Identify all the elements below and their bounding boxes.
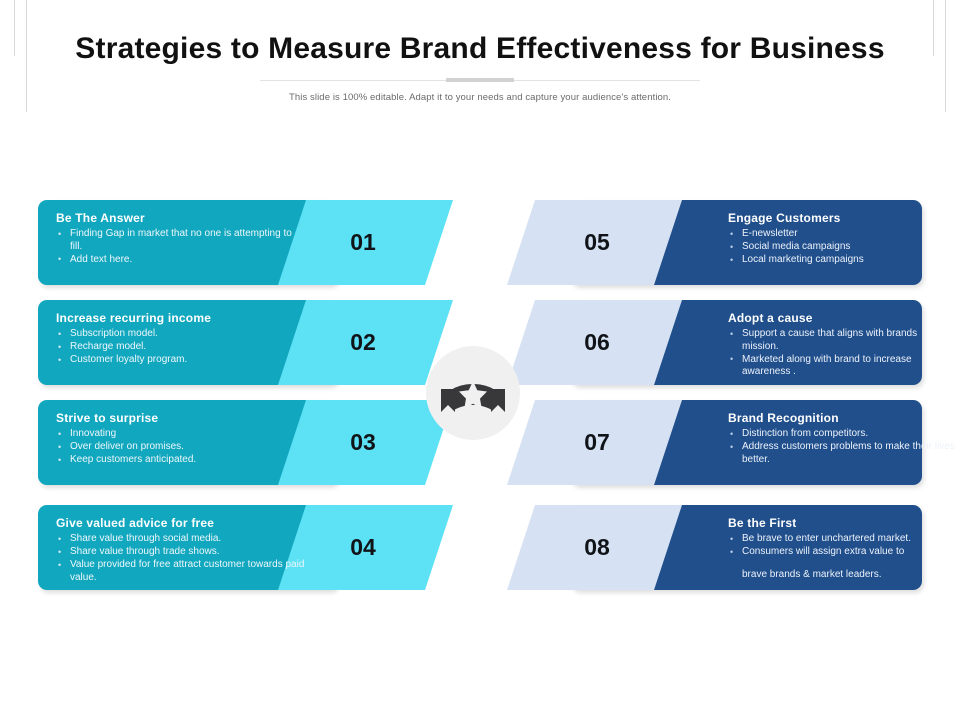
title-divider (260, 78, 700, 83)
card-content: Be The AnswerFinding Gap in market that … (56, 211, 306, 267)
right-card[interactable]: 07Brand RecognitionDistinction from comp… (570, 400, 922, 485)
center-emblem (426, 346, 520, 440)
bullet-list: Share value through social media.Share v… (56, 533, 306, 584)
card-title: Increase recurring income (56, 311, 306, 325)
bullet-list: InnovatingOver deliver on promises.Keep … (56, 428, 306, 467)
card-title: Strive to surprise (56, 411, 306, 425)
bullet-item: Address customers problems to make their… (728, 441, 956, 466)
bullet-list: Support a cause that aligns with brands … (728, 328, 956, 379)
card-number: 02 (328, 300, 398, 385)
bullet-item: Finding Gap in market that no one is att… (56, 228, 306, 253)
page-title: Strategies to Measure Brand Effectivenes… (0, 0, 960, 66)
card-number: 06 (562, 300, 632, 385)
bullet-item: Value provided for free attract customer… (56, 559, 306, 584)
bullet-item: Innovating (56, 428, 306, 441)
bullet-item: Consumers will assign extra value to (728, 546, 956, 559)
bullet-list: E-newsletterSocial media campaignsLocal … (728, 228, 956, 267)
card-title: Brand Recognition (728, 411, 956, 425)
bullet-item: Be brave to enter unchartered market. (728, 533, 956, 546)
card-number: 05 (562, 200, 632, 285)
card-number: 08 (562, 505, 632, 590)
bullet-item: Over deliver on promises. (56, 441, 306, 454)
bullet-item: Social media campaigns (728, 241, 956, 254)
title-divider-accent (446, 78, 514, 82)
right-card[interactable]: 08Be the FirstBe brave to enter uncharte… (570, 505, 922, 590)
bullet-list: Subscription model.Recharge model.Custom… (56, 328, 306, 367)
card-content: Brand RecognitionDistinction from compet… (728, 411, 956, 467)
card-number: 03 (328, 400, 398, 485)
card-number: 04 (328, 505, 398, 590)
bullet-item: Share value through social media. (56, 533, 306, 546)
left-card[interactable]: 03Strive to surpriseInnovatingOver deliv… (38, 400, 338, 485)
slide-header: Strategies to Measure Brand Effectivenes… (0, 0, 960, 103)
bullet-item: Add text here. (56, 254, 306, 267)
slide: Strategies to Measure Brand Effectivenes… (0, 0, 960, 720)
left-card[interactable]: 04Give valued advice for freeShare value… (38, 505, 338, 590)
bullet-list: Finding Gap in market that no one is att… (56, 228, 306, 266)
right-card[interactable]: 05Engage CustomersE-newsletterSocial med… (570, 200, 922, 285)
card-title: Give valued advice for free (56, 516, 306, 530)
bullet-item: Support a cause that aligns with brands … (728, 328, 956, 353)
card-title: Adopt a cause (728, 311, 956, 325)
left-card[interactable]: 01Be The AnswerFinding Gap in market tha… (38, 200, 338, 285)
bullet-item: Customer loyalty program. (56, 354, 306, 367)
bullet-list: Distinction from competitors.Address cus… (728, 428, 956, 466)
bullet-item: Distinction from competitors. (728, 428, 956, 441)
bullet-item: Share value through trade shows. (56, 546, 306, 559)
bullet-item: Recharge model. (56, 341, 306, 354)
bullet-item: Local marketing campaigns (728, 254, 956, 267)
card-title: Be The Answer (56, 211, 306, 225)
bullet-list: Be brave to enter unchartered market.Con… (728, 533, 956, 581)
card-content: Be the FirstBe brave to enter unchartere… (728, 516, 956, 582)
card-content: Increase recurring incomeSubscription mo… (56, 311, 306, 367)
card-content: Engage CustomersE-newsletterSocial media… (728, 211, 956, 267)
card-number: 01 (328, 200, 398, 285)
bullet-item: Keep customers anticipated. (56, 454, 306, 467)
bullet-item: Subscription model. (56, 328, 306, 341)
bullet-item: Marketed along with brand to increase aw… (728, 354, 956, 379)
slide-subtitle: This slide is 100% editable. Adapt it to… (0, 92, 960, 103)
card-number: 07 (562, 400, 632, 485)
card-title: Be the First (728, 516, 956, 530)
right-card[interactable]: 06Adopt a causeSupport a cause that alig… (570, 300, 922, 385)
card-content: Give valued advice for freeShare value t… (56, 516, 306, 585)
card-content: Adopt a causeSupport a cause that aligns… (728, 311, 956, 379)
left-card[interactable]: 02Increase recurring incomeSubscription … (38, 300, 338, 385)
bullet-item: E-newsletter (728, 228, 956, 241)
bullet-item: brave brands & market leaders. (728, 569, 956, 582)
card-title: Engage Customers (728, 211, 956, 225)
card-content: Strive to surpriseInnovatingOver deliver… (56, 411, 306, 467)
